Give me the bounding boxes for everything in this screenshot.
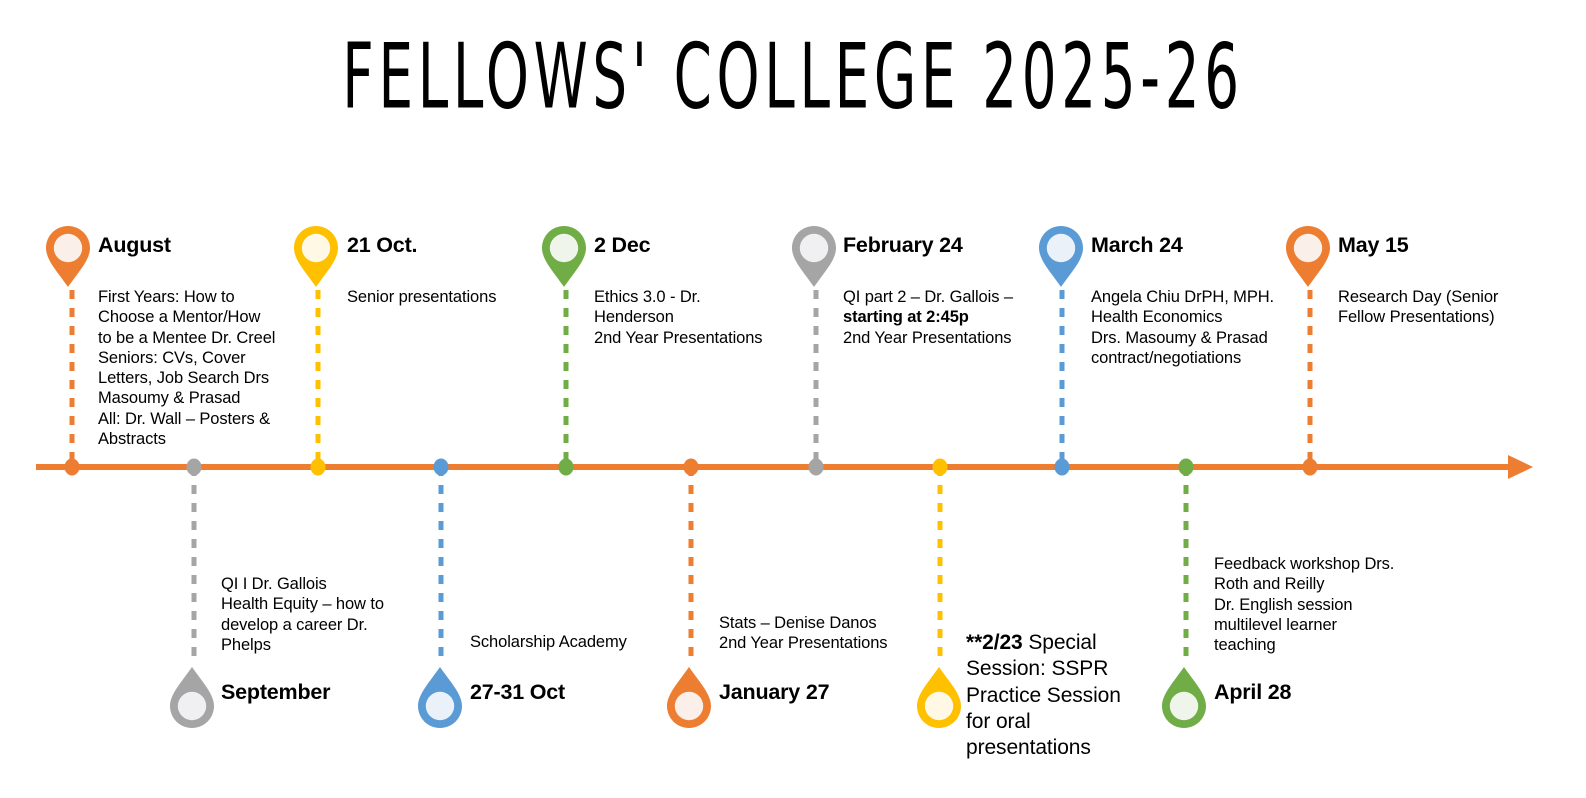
description-line: Roth and Reilly bbox=[1214, 574, 1394, 594]
milestone-description-january-27: Stats – Denise Danos2nd Year Presentatio… bbox=[719, 613, 887, 654]
timeline-axis bbox=[36, 464, 1516, 470]
pin-marker-september[interactable] bbox=[166, 664, 218, 732]
pin-marker-august[interactable] bbox=[42, 222, 94, 290]
description-line: Feedback workshop Drs. bbox=[1214, 554, 1394, 574]
pin-marker-january-27[interactable] bbox=[663, 664, 715, 732]
description-line: Letters, Job Search Drs bbox=[98, 368, 275, 388]
description-line: teaching bbox=[1214, 635, 1394, 655]
pin-marker-march-24[interactable] bbox=[1035, 222, 1087, 290]
description-line: Abstracts bbox=[98, 429, 275, 449]
pin-marker-april-28[interactable] bbox=[1158, 664, 1210, 732]
pin-marker-2-dec[interactable] bbox=[538, 222, 590, 290]
milestone-label-may-15: May 15 bbox=[1338, 233, 1409, 258]
pin-marker-27-31-oct[interactable] bbox=[414, 664, 466, 732]
description-line: Health Economics bbox=[1091, 307, 1274, 327]
description-line: First Years: How to bbox=[98, 287, 275, 307]
connector-2-23-special-session bbox=[938, 467, 943, 660]
milestone-description-may-15: Research Day (SeniorFellow Presentations… bbox=[1338, 287, 1498, 328]
connector-27-31-oct bbox=[439, 467, 444, 660]
connector-21-oct bbox=[316, 290, 321, 467]
milestone-label-august: August bbox=[98, 233, 171, 258]
connector-april-28 bbox=[1184, 467, 1189, 660]
milestone-label-27-31-oct: 27-31 Oct bbox=[470, 680, 565, 705]
description-line: to be a Mentee Dr. Creel bbox=[98, 328, 275, 348]
milestone-label-21-oct: 21 Oct. bbox=[347, 233, 417, 258]
milestone-description-april-28: Feedback workshop Drs.Roth and ReillyDr.… bbox=[1214, 554, 1394, 655]
milestone-description-21-oct: Senior presentations bbox=[347, 287, 496, 307]
description-line: Angela Chiu DrPH, MPH. bbox=[1091, 287, 1274, 307]
connector-august bbox=[70, 290, 75, 467]
pin-marker-may-15[interactable] bbox=[1282, 222, 1334, 290]
pin-marker-2-23-special-session[interactable] bbox=[913, 664, 965, 732]
description-line: for oral bbox=[966, 709, 1121, 735]
milestone-description-2-23-special-session: **2/23 SpecialSession: SSPRPractice Sess… bbox=[966, 630, 1121, 761]
description-line: 2nd Year Presentations bbox=[843, 328, 1013, 348]
milestone-label-september: September bbox=[221, 680, 330, 705]
description-line: Drs. Masoumy & Prasad bbox=[1091, 328, 1274, 348]
description-line: Scholarship Academy bbox=[470, 632, 627, 652]
timeline-infographic: FELLOWS' COLLEGE 2025-26 AugustFirst Yea… bbox=[0, 0, 1586, 798]
description-line: 2nd Year Presentations bbox=[719, 633, 887, 653]
description-line: Practice Session bbox=[966, 683, 1121, 709]
milestone-description-2-dec: Ethics 3.0 - Dr.Henderson2nd Year Presen… bbox=[594, 287, 762, 348]
description-line: Phelps bbox=[221, 635, 384, 655]
connector-march-24 bbox=[1060, 290, 1065, 467]
description-line: QI part 2 – Dr. Gallois – bbox=[843, 287, 1013, 307]
description-line: Dr. English session bbox=[1214, 595, 1394, 615]
milestone-label-february-24: February 24 bbox=[843, 233, 963, 258]
description-line: develop a career Dr. bbox=[221, 615, 384, 635]
connector-september bbox=[192, 467, 197, 660]
description-line: Ethics 3.0 - Dr. bbox=[594, 287, 762, 307]
connector-2-dec bbox=[564, 290, 569, 467]
description-line: contract/negotiations bbox=[1091, 348, 1274, 368]
milestone-description-march-24: Angela Chiu DrPH, MPH.Health EconomicsDr… bbox=[1091, 287, 1274, 368]
description-line: Stats – Denise Danos bbox=[719, 613, 887, 633]
milestone-description-27-31-oct: Scholarship Academy bbox=[470, 632, 627, 652]
description-line: **2/23 Special bbox=[966, 630, 1121, 656]
description-line: Fellow Presentations) bbox=[1338, 307, 1498, 327]
description-line: Research Day (Senior bbox=[1338, 287, 1498, 307]
description-line: Session: SSPR bbox=[966, 656, 1121, 682]
description-line: multilevel learner bbox=[1214, 615, 1394, 635]
description-line: Masoumy & Prasad bbox=[98, 388, 275, 408]
timeline-arrow-icon bbox=[1508, 455, 1533, 479]
connector-may-15 bbox=[1308, 290, 1313, 467]
milestone-description-february-24: QI part 2 – Dr. Gallois –starting at 2:4… bbox=[843, 287, 1013, 348]
connector-february-24 bbox=[814, 290, 819, 467]
description-line: QI I Dr. Gallois bbox=[221, 574, 384, 594]
milestone-label-march-24: March 24 bbox=[1091, 233, 1183, 258]
description-line: Seniors: CVs, Cover bbox=[98, 348, 275, 368]
pin-marker-february-24[interactable] bbox=[788, 222, 840, 290]
description-line: All: Dr. Wall – Posters & bbox=[98, 409, 275, 429]
page-title: FELLOWS' COLLEGE 2025-26 bbox=[174, 32, 1411, 122]
description-line: Henderson bbox=[594, 307, 762, 327]
description-line: Choose a Mentor/How bbox=[98, 307, 275, 327]
description-line: Health Equity – how to bbox=[221, 594, 384, 614]
milestone-label-2-dec: 2 Dec bbox=[594, 233, 650, 258]
description-line: 2nd Year Presentations bbox=[594, 328, 762, 348]
description-line: starting at 2:45p bbox=[843, 307, 1013, 327]
milestone-description-august: First Years: How toChoose a Mentor/Howto… bbox=[98, 287, 275, 449]
description-line: presentations bbox=[966, 735, 1121, 761]
pin-marker-21-oct[interactable] bbox=[290, 222, 342, 290]
description-line: Senior presentations bbox=[347, 287, 496, 307]
milestone-label-april-28: April 28 bbox=[1214, 680, 1291, 705]
connector-january-27 bbox=[689, 467, 694, 660]
milestone-description-september: QI I Dr. GalloisHealth Equity – how tode… bbox=[221, 574, 384, 655]
milestone-label-january-27: January 27 bbox=[719, 680, 829, 705]
